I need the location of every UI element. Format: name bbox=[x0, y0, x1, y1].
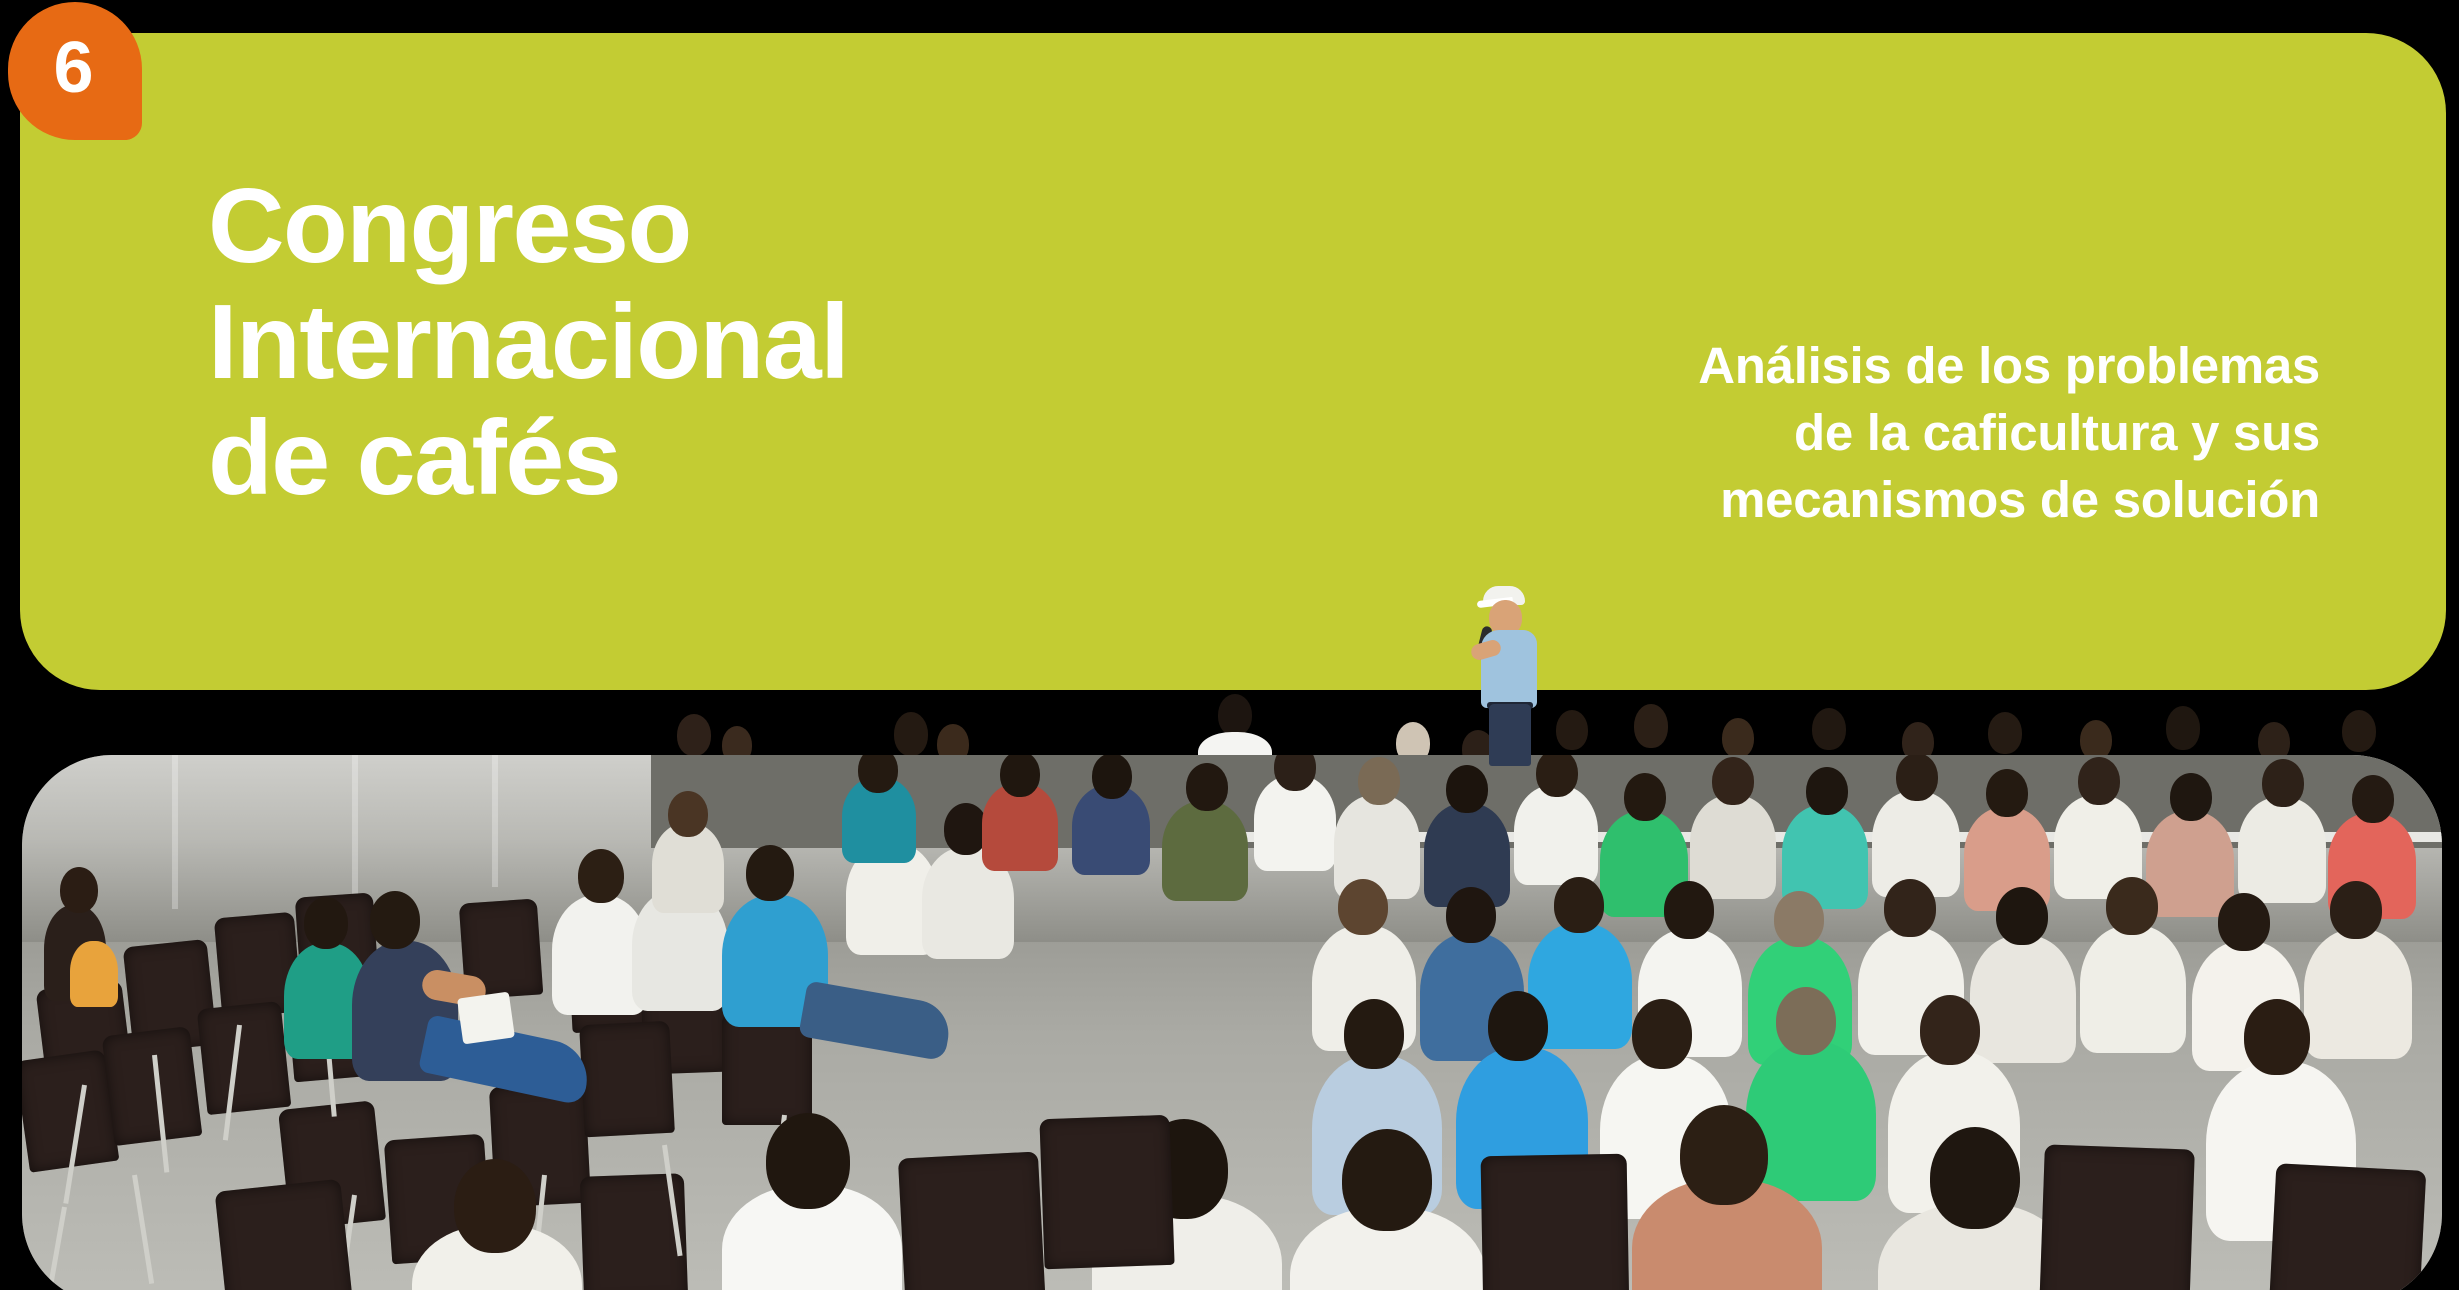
attendee-head bbox=[1186, 763, 1228, 811]
attendee-head bbox=[1920, 995, 1980, 1065]
wall-divider bbox=[172, 755, 178, 909]
attendee-head bbox=[578, 849, 624, 903]
attendee-head bbox=[2352, 775, 2394, 823]
chair bbox=[1481, 1154, 1630, 1290]
attendee-head bbox=[1342, 1129, 1432, 1231]
attendee-head bbox=[1884, 879, 1936, 937]
attendee-head bbox=[2106, 877, 2158, 935]
attendee-torso bbox=[1746, 1041, 1876, 1201]
chair bbox=[197, 1001, 292, 1115]
attendee-head bbox=[1664, 881, 1714, 939]
attendee-head bbox=[1554, 877, 1604, 933]
title-line-3: de cafés bbox=[208, 400, 848, 516]
crowd-head bbox=[1218, 694, 1252, 736]
attendee-head bbox=[668, 791, 708, 837]
attendee-torso bbox=[2304, 929, 2412, 1059]
attendee-head bbox=[1446, 765, 1488, 813]
attendee-head bbox=[858, 755, 898, 793]
attendee-head bbox=[1344, 999, 1404, 1069]
photo-body bbox=[22, 755, 2442, 1290]
attendee-head bbox=[1632, 999, 1692, 1069]
attendee-head bbox=[1338, 879, 1388, 935]
wall-divider bbox=[352, 755, 358, 898]
attendee-head bbox=[1930, 1127, 2020, 1229]
attendee-paper bbox=[457, 992, 515, 1045]
attendee-head bbox=[1806, 767, 1848, 815]
crowd-head bbox=[1812, 708, 1846, 750]
speaker-figure bbox=[1477, 586, 1547, 768]
subtitle-line-2: de la caficultura y sus bbox=[1698, 399, 2320, 466]
attendee-head bbox=[2170, 773, 2212, 821]
attendee-torso bbox=[1970, 935, 2076, 1063]
attendee-torso bbox=[2080, 925, 2186, 1053]
chair bbox=[898, 1151, 1046, 1290]
attendee-head bbox=[370, 891, 420, 949]
attendee-head bbox=[454, 1159, 536, 1253]
crowd-head bbox=[2342, 710, 2376, 752]
attendee-head bbox=[60, 867, 98, 913]
title-line-1: Congreso bbox=[208, 168, 848, 284]
attendee-head bbox=[1712, 757, 1754, 805]
page-subtitle: Análisis de los problemas de la caficult… bbox=[1698, 332, 2320, 533]
attendee-head bbox=[1986, 769, 2028, 817]
attendee-torso bbox=[1690, 795, 1776, 899]
chair bbox=[722, 1013, 812, 1125]
attendee-head bbox=[746, 845, 794, 901]
section-number-badge: 6 bbox=[8, 2, 142, 140]
crowd-head bbox=[1634, 704, 1668, 748]
attendee-head bbox=[2218, 893, 2270, 951]
audience-photo bbox=[22, 664, 2442, 1290]
chair bbox=[102, 1026, 203, 1146]
crowd-head bbox=[894, 712, 928, 756]
attendee-head bbox=[1488, 991, 1548, 1061]
attendee-head bbox=[1624, 773, 1666, 821]
chair bbox=[215, 1179, 356, 1290]
attendee-head bbox=[1896, 755, 1938, 801]
attendee-head bbox=[2078, 757, 2120, 805]
attendee-torso bbox=[1514, 785, 1598, 885]
subtitle-line-1: Análisis de los problemas bbox=[1698, 332, 2320, 399]
attendee-head bbox=[2262, 759, 2304, 807]
crowd-head bbox=[1988, 712, 2022, 754]
crowd-head bbox=[677, 714, 711, 756]
attendee-head bbox=[1776, 987, 1836, 1055]
chair bbox=[1039, 1115, 1174, 1269]
crowd-head bbox=[2166, 706, 2200, 750]
section-number-label: 6 bbox=[53, 32, 92, 104]
attendee-head bbox=[304, 897, 348, 949]
attendee-head bbox=[1680, 1105, 1768, 1205]
crowd-head bbox=[1556, 710, 1588, 750]
crowd-head bbox=[1722, 718, 1754, 758]
attendee-head bbox=[1358, 757, 1400, 805]
attendee-torso bbox=[70, 941, 118, 1007]
attendee-head bbox=[1000, 755, 1040, 797]
attendee-torso bbox=[1162, 801, 1248, 901]
chair bbox=[2268, 1163, 2427, 1290]
attendee-head bbox=[766, 1113, 850, 1209]
attendee-torso bbox=[2238, 797, 2326, 903]
attendee-torso bbox=[2146, 811, 2234, 917]
crowd-head bbox=[2080, 720, 2112, 760]
attendee-head bbox=[1446, 887, 1496, 943]
attendee-head bbox=[2330, 881, 2382, 939]
attendee-head bbox=[1774, 891, 1824, 947]
page-title: Congreso Internacional de cafés bbox=[208, 168, 848, 516]
chair bbox=[2039, 1144, 2195, 1290]
chair bbox=[579, 1021, 675, 1138]
attendee-head bbox=[2244, 999, 2310, 1075]
wall-divider bbox=[492, 755, 498, 887]
title-line-2: Internacional bbox=[208, 284, 848, 400]
slide-canvas: 6 Congreso Internacional de cafés Anális… bbox=[0, 0, 2459, 1290]
speaker-legs bbox=[1489, 704, 1531, 766]
attendee-head bbox=[1092, 755, 1132, 799]
attendee-head bbox=[1996, 887, 2048, 945]
subtitle-line-3: mecanismos de solución bbox=[1698, 466, 2320, 533]
